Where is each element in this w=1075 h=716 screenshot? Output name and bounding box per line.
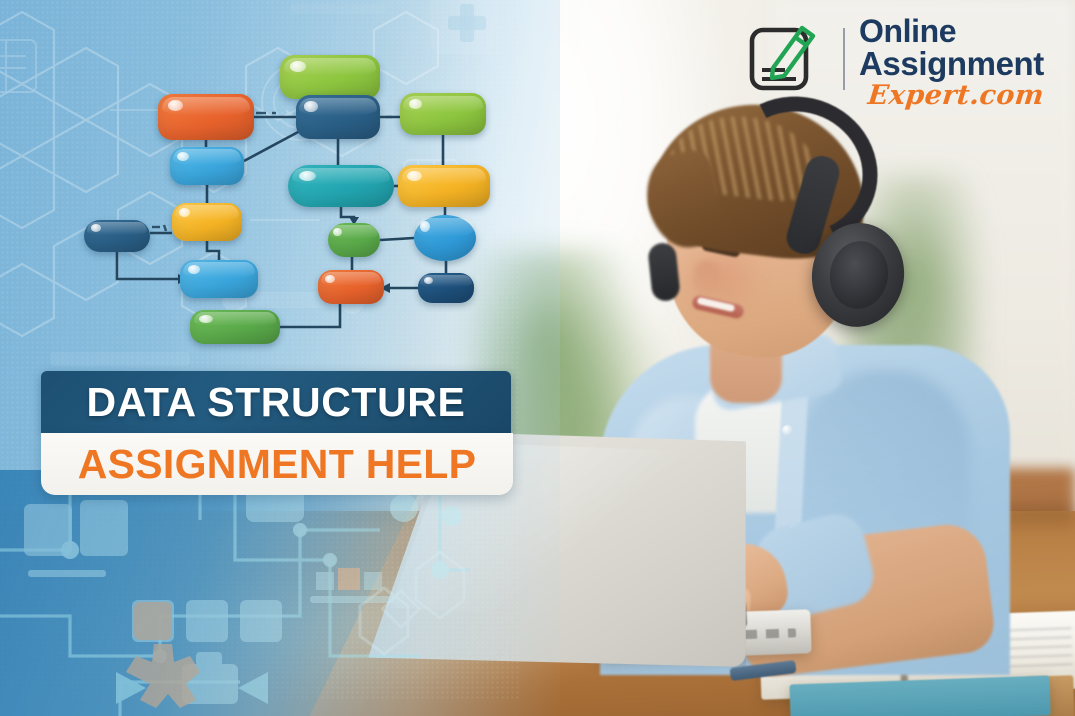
flowchart-node [418,273,474,303]
flowchart-node [172,203,242,241]
node-gloss [330,225,378,239]
node-gloss [402,168,487,186]
nose [694,261,720,295]
flowchart-node [398,165,490,207]
node-gloss [321,272,382,286]
hero-banner: DATA STRUCTURE ASSIGNMENT HELP Online As… [0,0,1075,716]
logo-line-3: Expert.com [858,82,1046,109]
node-gloss [420,275,472,288]
flowchart-node [180,260,258,298]
title-band-primary: DATA STRUCTURE [41,371,511,433]
brand-logo[interactable]: Online Assignment Expert.com [747,16,1059,120]
flowchart-node [288,165,394,207]
flowchart-node [328,223,380,257]
logo-line-1: Online [859,16,1044,48]
node-gloss [403,96,482,114]
logo-divider [843,28,845,90]
flowchart-node [158,94,254,140]
logo-wordmark: Online Assignment Expert.com [859,16,1044,109]
node-gloss [175,205,239,221]
flowchart-node [170,147,244,185]
node-gloss [416,218,473,237]
flowchart-node [84,220,150,252]
flowchart-node [400,93,486,135]
title-line-2: ASSIGNMENT HELP [78,444,477,485]
node-gloss [162,97,250,116]
node-gloss [292,168,390,186]
flowchart-node [414,215,476,261]
node-gloss [173,149,241,165]
node-gloss [183,262,255,278]
node-gloss [87,222,148,235]
node-gloss [299,98,376,116]
node-gloss [284,58,376,76]
shirt-button-top [782,425,793,436]
logo-line-2: Assignment [859,48,1044,81]
flowchart-node [280,55,380,99]
flowchart-node [296,95,380,139]
flowchart-diagram [60,55,460,365]
flowchart-node [190,310,280,344]
node-gloss [194,312,277,326]
flowchart-node [318,270,384,304]
document-pencil-icon [747,20,825,94]
title-band-secondary: ASSIGNMENT HELP [41,433,513,495]
title-line-1: DATA STRUCTURE [87,382,466,423]
